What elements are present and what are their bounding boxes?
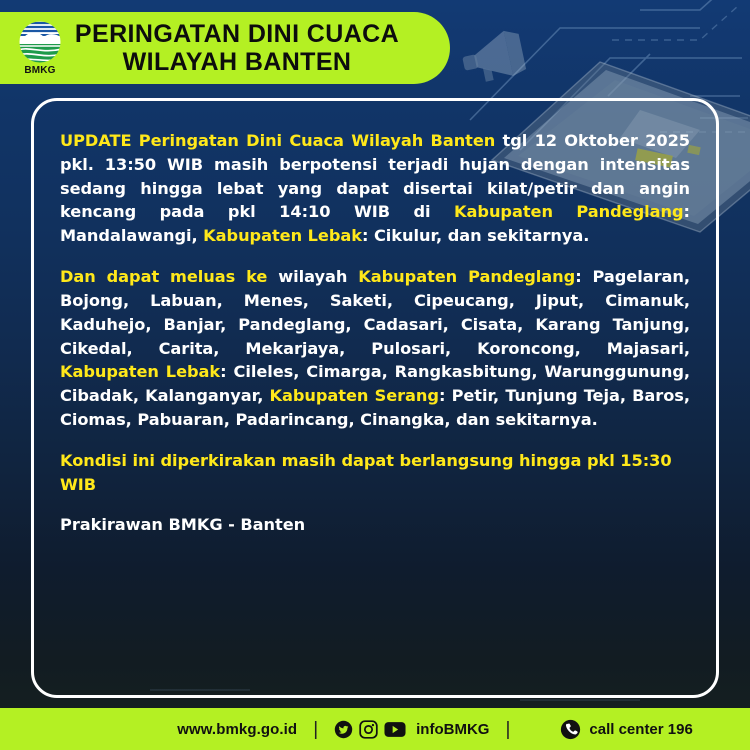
p2-seg3: Kabupaten Pandeglang xyxy=(358,267,575,286)
header-banner: BMKG PERINGATAN DINI CUACA WILAYAH BANTE… xyxy=(0,12,450,84)
page-title-line1: PERINGATAN DINI CUACA xyxy=(68,20,406,48)
weather-warning-poster: BMKG PERINGATAN DINI CUACA WILAYAH BANTE… xyxy=(0,0,750,750)
p2-seg1: Dan dapat meluas ke xyxy=(60,267,267,286)
social-handle-label[interactable]: infoBMKG xyxy=(416,721,489,738)
instagram-icon[interactable] xyxy=(359,720,378,739)
p2-seg5: Kabupaten Lebak xyxy=(60,362,220,381)
call-center-label: call center 196 xyxy=(589,721,692,738)
call-center-group: call center 196 xyxy=(560,719,692,740)
youtube-icon[interactable] xyxy=(384,720,406,739)
p2-seg2: wilayah xyxy=(267,267,358,286)
page-title: PERINGATAN DINI CUACA WILAYAH BANTEN xyxy=(68,20,450,76)
forecaster-signature: Prakirawan BMKG - Banten xyxy=(60,513,690,537)
p1-seg6: : Cikulur, dan sekitarnya. xyxy=(362,226,589,245)
social-links-group: infoBMKG xyxy=(334,720,489,739)
p2-seg7: Kabupaten Serang xyxy=(270,386,439,405)
bmkg-logo-label: BMKG xyxy=(24,65,55,76)
p1-seg3: Kabupaten Pandeglang xyxy=(454,202,684,221)
page-title-line2: WILAYAH BANTEN xyxy=(68,48,406,76)
footer-bar: www.bmkg.go.id | infoBMKG | xyxy=(0,708,750,750)
warning-paragraph-expansion: Dan dapat meluas ke wilayah Kabupaten Pa… xyxy=(60,265,690,432)
bmkg-logo-icon xyxy=(18,20,62,64)
warning-card: UPDATE Peringatan Dini Cuaca Wilayah Ban… xyxy=(31,98,719,698)
warning-paragraph-primary: UPDATE Peringatan Dini Cuaca Wilayah Ban… xyxy=(60,129,690,248)
twitter-icon[interactable] xyxy=(334,720,353,739)
phone-icon xyxy=(560,719,581,740)
bmkg-logo: BMKG xyxy=(12,17,68,79)
footer-separator-2: | xyxy=(505,720,510,739)
footer-website-link[interactable]: www.bmkg.go.id xyxy=(177,721,297,738)
footer-separator-1: | xyxy=(313,720,318,739)
warning-duration-note: Kondisi ini diperkirakan masih dapat ber… xyxy=(60,449,690,497)
p1-seg1: UPDATE Peringatan Dini Cuaca Wilayah Ban… xyxy=(60,131,495,150)
p1-seg5: Kabupaten Lebak xyxy=(203,226,362,245)
